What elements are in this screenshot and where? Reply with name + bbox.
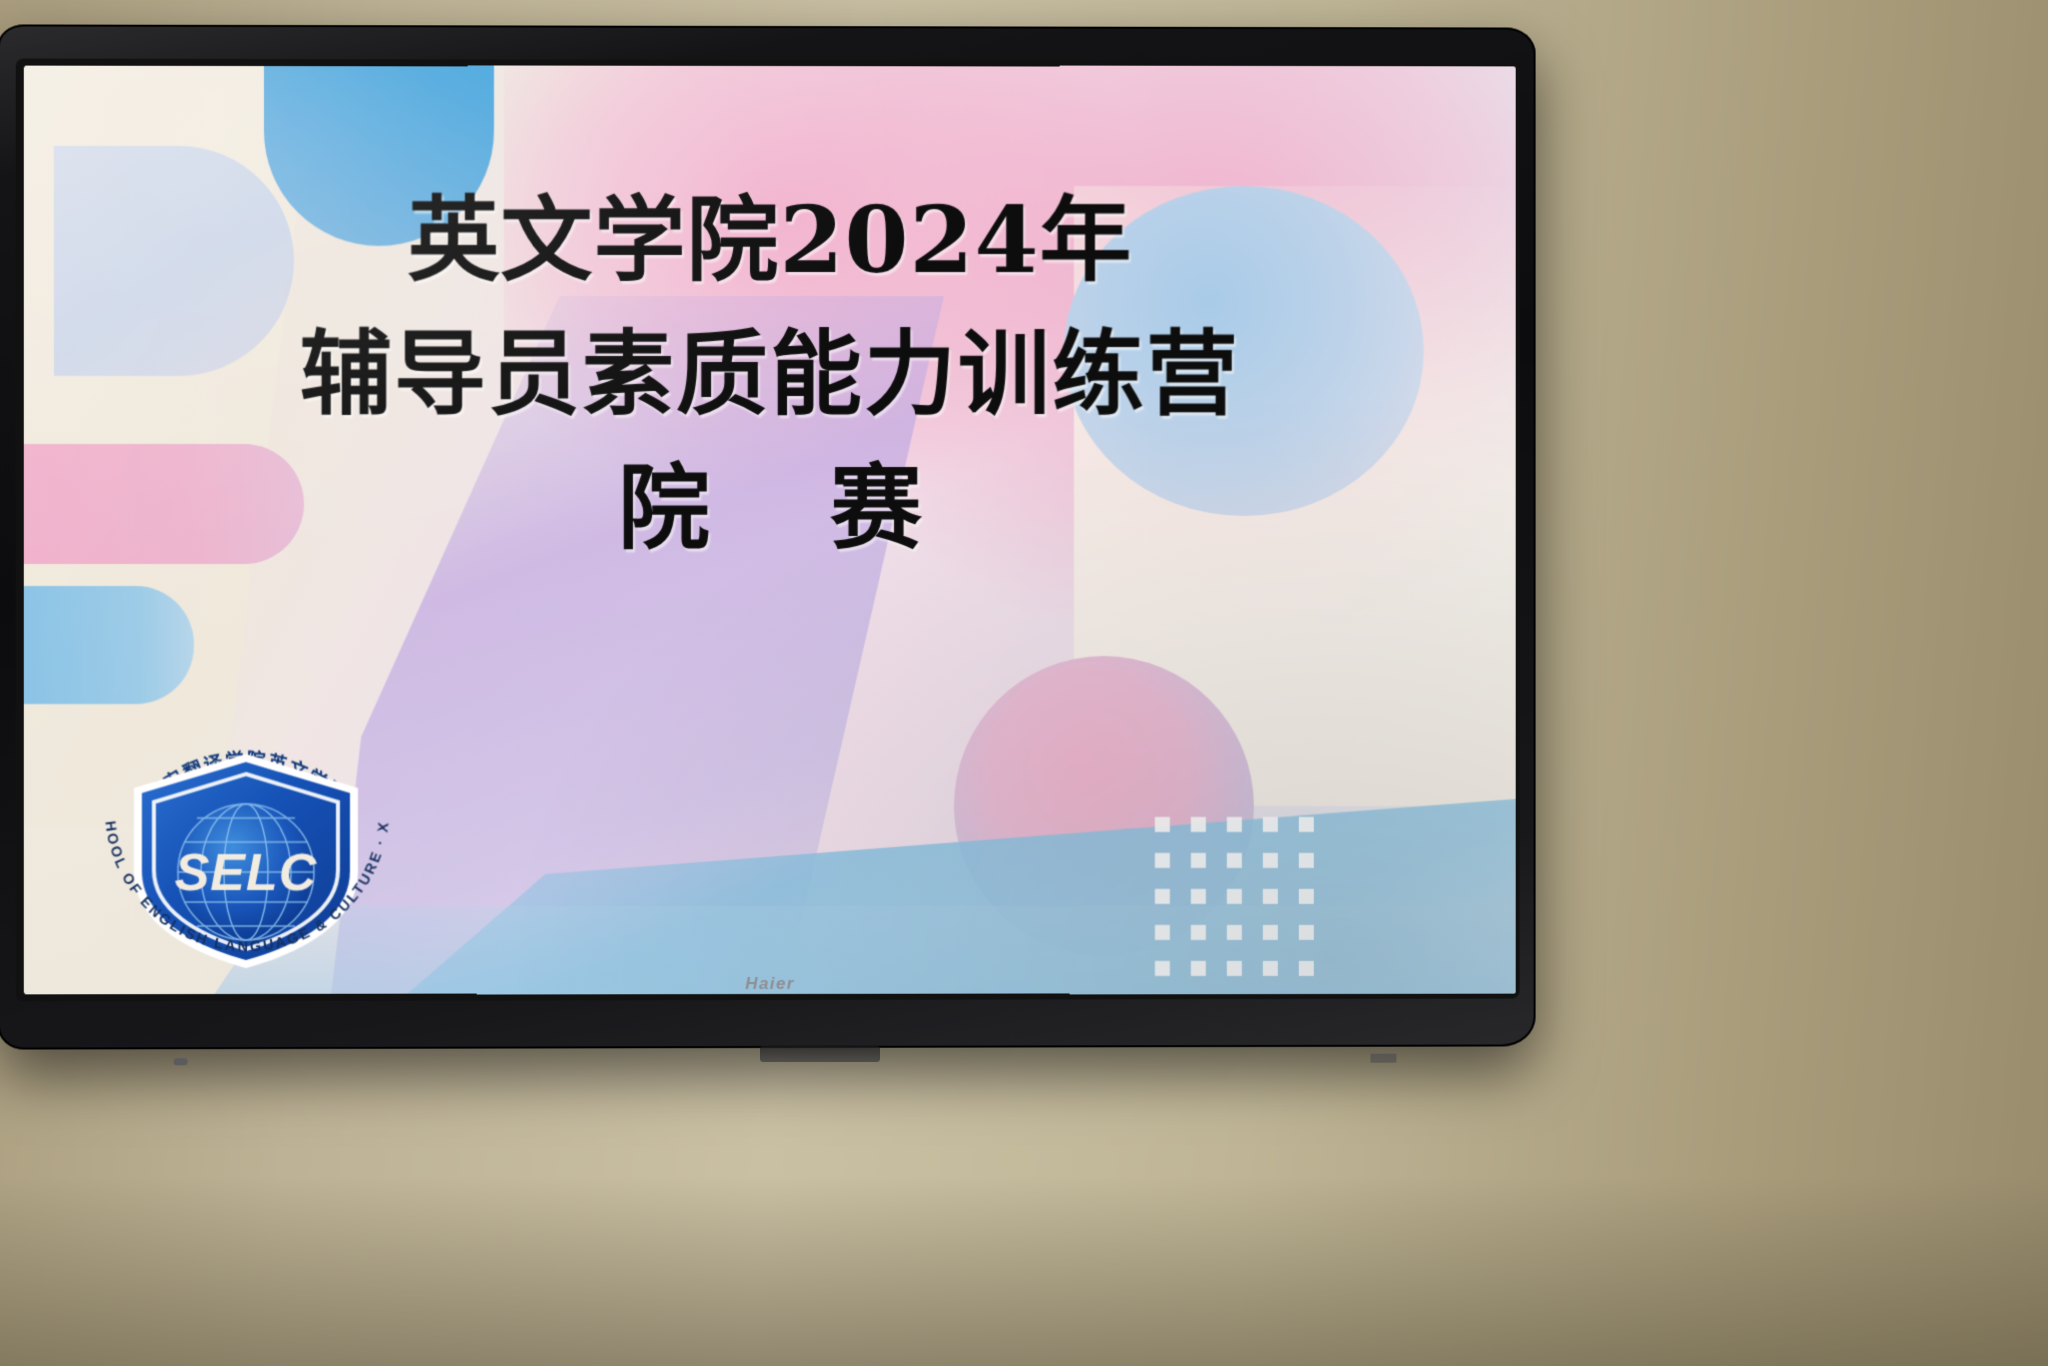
tv-brand-label: Haier	[16, 973, 1520, 996]
title-line-1: 英文学院2024年	[24, 194, 1516, 286]
tv-stand	[760, 1046, 880, 1062]
tv-rear-tag	[1371, 1054, 1397, 1063]
tv-panel: 英文学院2024年 辅导员素质能力训练营 院 赛 2024年12月13日	[16, 59, 1520, 1002]
title-line-2: 辅导员素质能力训练营	[24, 328, 1516, 420]
tv-power-led	[174, 1058, 188, 1065]
decorative-dot-grid	[1144, 806, 1324, 986]
logo-acronym: SELC	[175, 844, 318, 902]
television: 英文学院2024年 辅导员素质能力训练营 院 赛 2024年12月13日	[0, 24, 1536, 1049]
slide-title-block: 英文学院2024年 辅导员素质能力训练营 院 赛	[24, 194, 1516, 554]
title-line-3: 院 赛	[24, 462, 1516, 554]
presentation-slide: 英文学院2024年 辅导员素质能力训练营 院 赛 2024年12月13日	[24, 66, 1516, 994]
tv-screen: 英文学院2024年 辅导员素质能力训练营 院 赛 2024年12月13日	[24, 66, 1516, 994]
selc-logo: 西安翻译学院英文学院	[96, 676, 396, 986]
